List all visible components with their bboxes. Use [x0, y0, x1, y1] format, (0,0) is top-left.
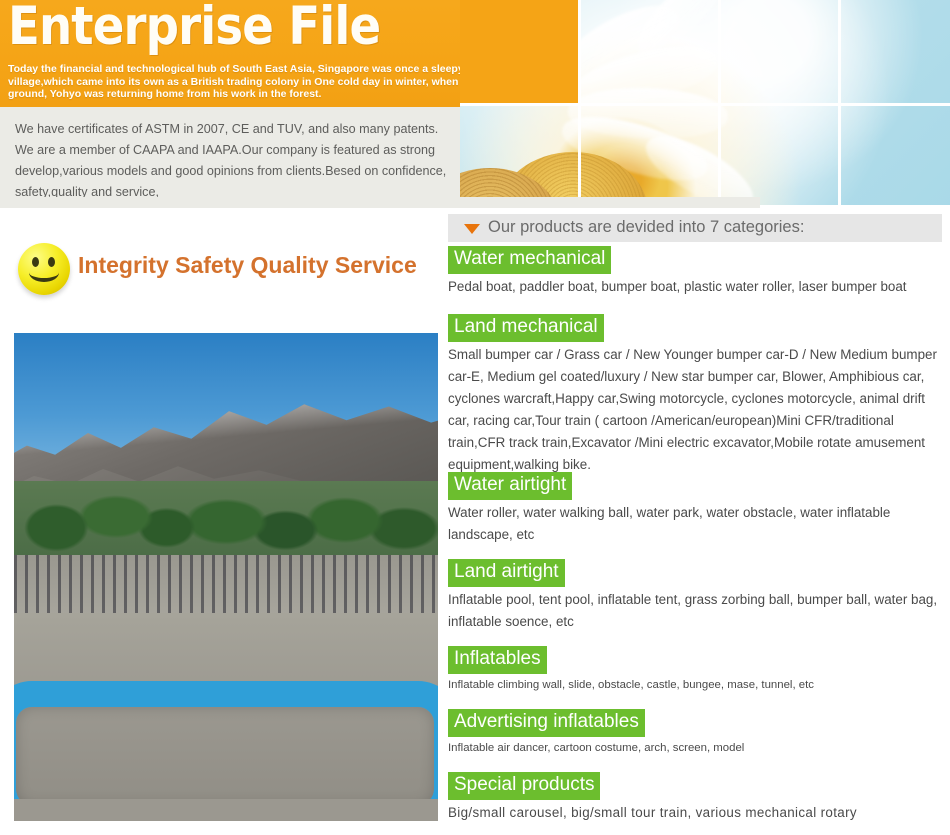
products-header-label: Our products are devided into 7 categori… — [488, 218, 804, 237]
photo-pool-floor — [14, 799, 438, 821]
category-badge: Inflatables — [448, 646, 547, 674]
category-items: Water roller, water walking ball, water … — [448, 502, 942, 546]
products-header: Our products are devided into 7 categori… — [448, 214, 942, 242]
category-water-airtight[interactable]: Water airtight Water roller, water walki… — [448, 472, 942, 546]
category-land-mechanical[interactable]: Land mechanical Small bumper car / Grass… — [448, 314, 942, 476]
category-items: Big/small carousel, big/small tour train… — [448, 802, 942, 824]
category-items: Pedal boat, paddler boat, bumper boat, p… — [448, 276, 942, 298]
category-badge: Water mechanical — [448, 246, 611, 274]
category-badge: Advertising inflatables — [448, 709, 645, 737]
photo-crowd — [14, 555, 438, 619]
gray-divider-strip — [0, 197, 760, 208]
category-land-airtight[interactable]: Land airtight Inflatable pool, tent pool… — [448, 559, 942, 633]
smiley-mouth — [29, 263, 59, 282]
page-title: Enterprise File — [8, 0, 380, 55]
smiley-face-icon — [18, 243, 70, 295]
triangle-down-icon — [464, 224, 480, 234]
bumper-boats-photo — [14, 333, 438, 821]
category-badge: Land airtight — [448, 559, 565, 587]
certificates-block: We have certificates of ASTM in 2007, CE… — [0, 107, 460, 208]
category-water-mechanical[interactable]: Water mechanical Pedal boat, paddler boa… — [448, 246, 942, 298]
company-slogan: Integrity Safety Quality Service — [78, 252, 417, 279]
category-special-products[interactable]: Special products Big/small carousel, big… — [448, 772, 942, 824]
page-root: Enterprise File Today the financial and … — [0, 0, 950, 835]
category-badge: Land mechanical — [448, 314, 604, 342]
products-panel: Our products are devided into 7 categori… — [448, 214, 950, 835]
category-items: Inflatable climbing wall, slide, obstacl… — [448, 676, 942, 695]
mosaic-orange-overlay — [460, 0, 580, 105]
certificates-text: We have certificates of ASTM in 2007, CE… — [15, 119, 455, 203]
category-inflatables[interactable]: Inflatables Inflatable climbing wall, sl… — [448, 646, 942, 695]
photo-treeline — [14, 481, 438, 566]
category-items: Inflatable pool, tent pool, inflatable t… — [448, 589, 942, 633]
category-badge: Special products — [448, 772, 600, 800]
category-badge: Water airtight — [448, 472, 572, 500]
category-items: Inflatable air dancer, cartoon costume, … — [448, 739, 942, 758]
daisy-photo-mosaic — [460, 0, 950, 208]
category-items: Small bumper car / Grass car / New Young… — [448, 344, 942, 476]
category-advertising-inflatables[interactable]: Advertising inflatables Inflatable air d… — [448, 709, 942, 758]
